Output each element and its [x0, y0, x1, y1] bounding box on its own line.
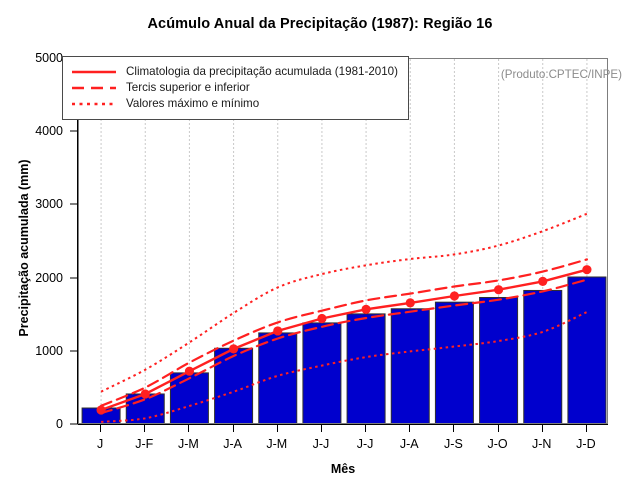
bar: [568, 277, 606, 423]
legend-label: Valores máximo e mínimo: [126, 97, 259, 111]
x-tick-label: J-S: [444, 437, 463, 451]
bar: [259, 333, 297, 423]
x-tick-label: J-A: [400, 437, 419, 451]
data-point: [141, 389, 150, 398]
y-tick-label: 5000: [35, 51, 63, 65]
data-point: [538, 277, 547, 286]
x-tick-label: J-F: [135, 437, 153, 451]
bar: [170, 373, 208, 423]
x-tick-label: J-M: [178, 437, 199, 451]
y-axis-title: Precipitação acumulada (mm): [17, 98, 31, 398]
bar: [215, 348, 253, 423]
x-tick-mark: [586, 424, 587, 432]
legend-swatch-dashed-icon: [71, 81, 117, 95]
data-point: [273, 326, 282, 335]
x-tick-label: J: [97, 437, 103, 451]
x-axis-title: Mês: [78, 462, 608, 476]
x-tick-label: J-D: [576, 437, 595, 451]
x-tick-mark: [233, 424, 234, 432]
data-point: [229, 344, 238, 353]
x-tick-mark: [100, 424, 101, 432]
y-tick-mark: [70, 424, 78, 425]
x-tick-mark: [498, 424, 499, 432]
chart-legend: Climatologia da precipitação acumulada (…: [62, 56, 409, 120]
x-tick-mark: [453, 424, 454, 432]
x-tick-mark: [365, 424, 366, 432]
bar: [435, 302, 473, 423]
bar: [480, 297, 518, 423]
data-point: [185, 367, 194, 376]
legend-swatch-dotted-icon: [71, 97, 117, 111]
bar: [347, 314, 385, 423]
x-tick-mark: [144, 424, 145, 432]
x-tick-label: J-J: [357, 437, 374, 451]
legend-label: Climatologia da precipitação acumulada (…: [126, 65, 398, 79]
product-note: (Produto:CPTEC/INPE): [501, 68, 622, 81]
y-tick-label: 1000: [35, 344, 63, 358]
x-tick-mark: [188, 424, 189, 432]
data-point: [317, 314, 326, 323]
y-tick-label: 2000: [35, 271, 63, 285]
bar: [524, 290, 562, 423]
y-tick-mark: [70, 204, 78, 205]
y-tick-label: 0: [56, 417, 63, 431]
x-tick-label: J-A: [223, 437, 242, 451]
x-tick-label: J-J: [313, 437, 330, 451]
x-tick-label: J-N: [532, 437, 551, 451]
x-tick-label: J-M: [266, 437, 287, 451]
data-point: [361, 305, 370, 314]
x-axis: Mês JJ-FJ-MJ-AJ-MJ-JJ-JJ-AJ-SJ-OJ-NJ-D: [78, 424, 608, 484]
legend-item: Tercis superior e inferior: [71, 80, 398, 96]
bar: [391, 309, 429, 423]
data-point: [450, 291, 459, 300]
x-tick-mark: [277, 424, 278, 432]
x-tick-mark: [409, 424, 410, 432]
chart-page: Acúmulo Anual da Precipitação (1987): Re…: [0, 0, 640, 500]
y-tick-label: 4000: [35, 124, 63, 138]
bar-series: [82, 277, 606, 423]
page-title: Acúmulo Anual da Precipitação (1987): Re…: [0, 16, 640, 32]
data-point: [494, 285, 503, 294]
x-axis-line: [78, 424, 608, 425]
y-tick-mark: [70, 131, 78, 132]
legend-swatch-solid-icon: [71, 65, 117, 79]
bar: [303, 323, 341, 423]
y-tick-mark: [70, 350, 78, 351]
x-tick-mark: [321, 424, 322, 432]
legend-item: Valores máximo e mínimo: [71, 96, 398, 112]
legend-item: Climatologia da precipitação acumulada (…: [71, 64, 398, 80]
data-point: [406, 298, 415, 307]
x-tick-mark: [542, 424, 543, 432]
legend-label: Tercis superior e inferior: [126, 81, 250, 95]
x-tick-label: J-O: [488, 437, 508, 451]
data-point: [582, 265, 591, 274]
y-tick-label: 3000: [35, 197, 63, 211]
y-tick-mark: [70, 277, 78, 278]
